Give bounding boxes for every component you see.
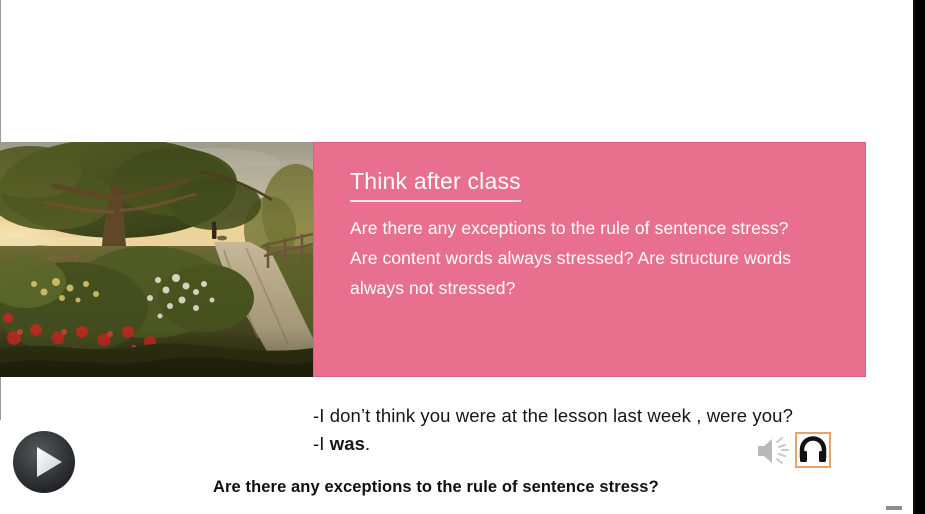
panel-line-1: Are there any exceptions to the rule of … [350,214,820,244]
question-prompt: Are there any exceptions to the rule of … [213,478,659,497]
dialogue-line-2-suffix: . [365,433,370,454]
panel-title: Think after class [350,169,521,202]
dialogue-line-1: -I don’t think you were at the lesson la… [313,402,893,430]
dialogue-line-2-prefix: -I [313,433,330,454]
dialogue-line-1-text: -I don’t think you were at the lesson la… [313,405,793,426]
speaker-icon[interactable] [755,434,793,468]
play-button[interactable] [10,428,78,496]
think-after-class-panel: Think after class Are there any exceptio… [313,142,866,377]
slide-canvas: Think after class Are there any exceptio… [0,0,925,514]
dialogue-line-2-bold: was [330,433,365,454]
headphones-icon[interactable] [795,432,831,468]
bottom-status-tick [886,506,902,510]
garden-path-sunset-photo [0,142,313,377]
panel-line-2: Are content words always stressed? Are s… [350,244,820,304]
panel-body: Are there any exceptions to the rule of … [350,214,820,303]
right-black-bar [915,0,925,514]
